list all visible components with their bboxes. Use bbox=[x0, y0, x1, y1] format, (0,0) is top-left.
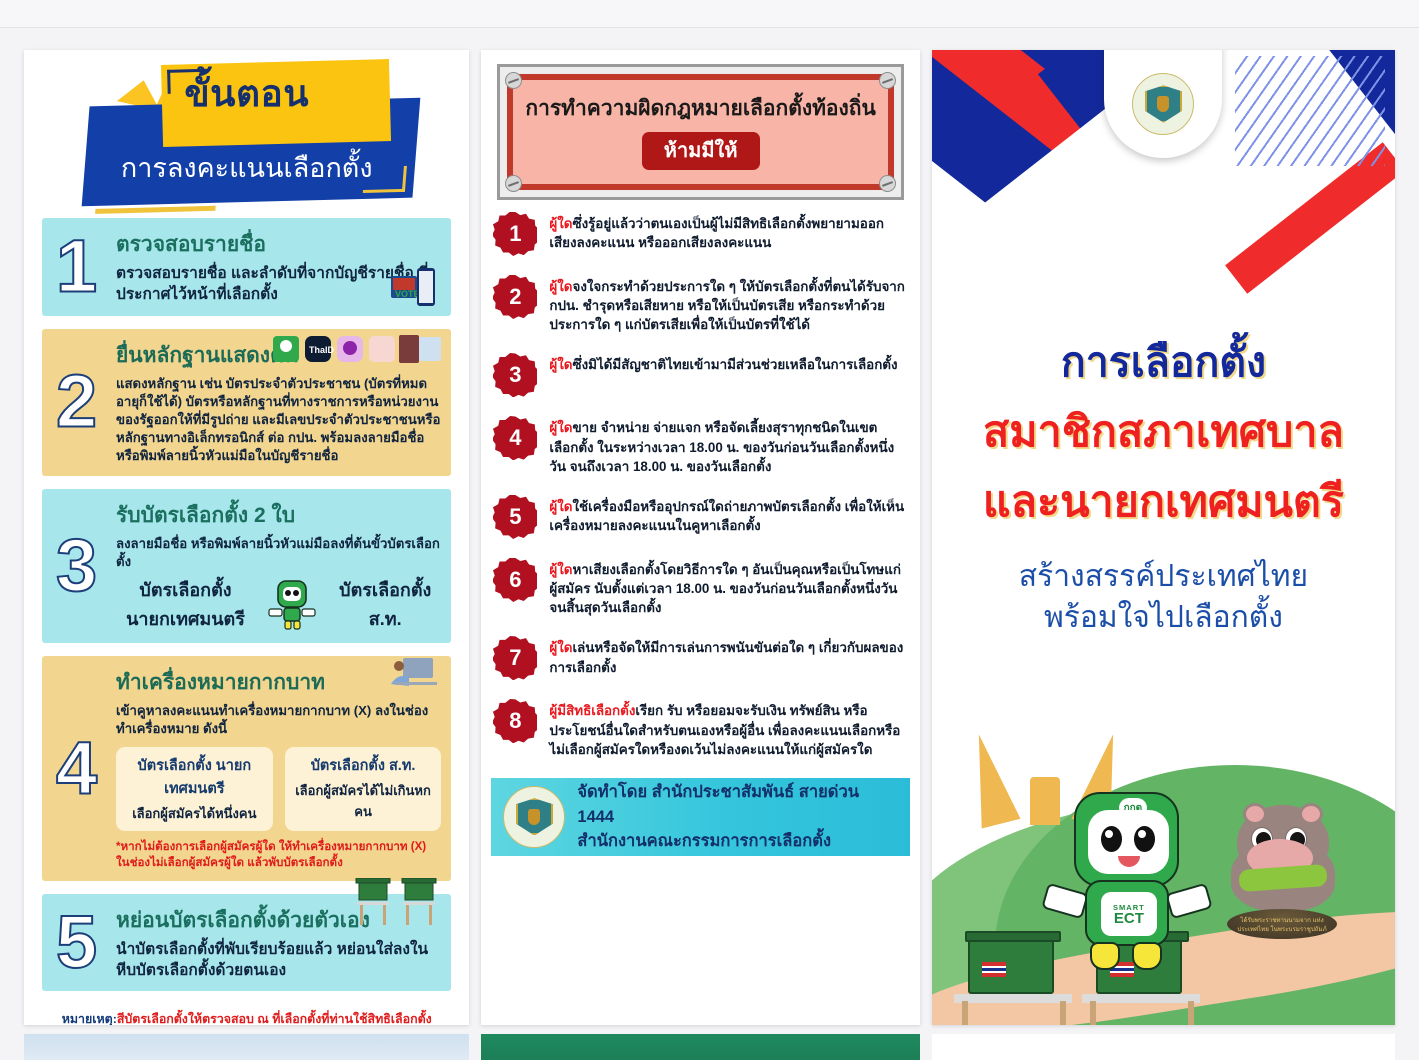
ect-footer-line2: สำนักงานคณะกรรมการการเลือกตั้ง bbox=[577, 829, 897, 854]
violation-body: ซึ่งรู้อยู่แล้วว่าตนเองเป็นผู้ไม่มีสิทธิ… bbox=[549, 216, 884, 250]
step-number: 4 bbox=[56, 738, 97, 799]
ect-footer-bar: จัดทำโดย สำนักประชาสัมพันธ์ สายด่วน 1444… bbox=[491, 778, 909, 856]
violation-body: หาเสียงเลือกตั้งโดยวิธีการใด ๆ อันเป็นคุ… bbox=[549, 562, 901, 615]
poster-titles: การเลือกตั้ง สมาชิกสภาเทศบาล และนายกเทศม… bbox=[932, 330, 1395, 638]
ect-mascot-icon bbox=[265, 577, 319, 631]
ect-emblem-icon bbox=[1132, 73, 1194, 135]
poster: การเลือกตั้ง สมาชิกสภาเทศบาล และนายกเทศม… bbox=[932, 50, 1395, 1025]
violation-highlight: ผู้ใด bbox=[549, 357, 572, 372]
violation-text: ผู้ใดซึ่งมิได้มีสัญชาติไทยเข้ามามีส่วนช่… bbox=[549, 353, 897, 374]
violation-highlight: ผู้ใด bbox=[549, 562, 572, 577]
warning-sign-inner: การทำความผิดกฎหมายเลือกตั้งท้องถิ่น ห้าม… bbox=[507, 74, 893, 190]
mascot-eye-left bbox=[1101, 826, 1122, 852]
step-heading: รับบัตรเลือกตั้ง 2 ใบ bbox=[116, 499, 441, 532]
mascot-mouth bbox=[1118, 856, 1140, 867]
violation-text: ผู้ใดขาย จำหน่าย จ่ายแจก หรือจัดเลี้ยงสุ… bbox=[549, 416, 905, 475]
violation-highlight: ผู้ใด bbox=[549, 279, 572, 294]
warning-sign-title: การทำความผิดกฎหมายเลือกตั้งท้องถิ่น bbox=[521, 92, 879, 125]
yellow-tick-decor bbox=[95, 206, 216, 214]
violation-number-seal: 3 bbox=[493, 353, 537, 397]
poster-title-line2: สมาชิกสภาเทศบาล bbox=[932, 397, 1395, 465]
poster-slogan: สร้างสรรค์ประเทศไทย พร้อมใจไปเลือกตั้ง bbox=[932, 557, 1395, 638]
violation-number-seal: 4 bbox=[493, 416, 537, 460]
ballot-box-lid bbox=[965, 931, 1061, 942]
hippo-ear-left bbox=[1243, 803, 1267, 825]
step-5: 5 หย่อนบัตรเลือกตั้งด้วยตัวเอง นำบัตรเลื… bbox=[42, 894, 451, 992]
violation-item: 6 ผู้ใดหาเสียงเลือกตั้งโดยวิธีการใด ๆ อั… bbox=[493, 558, 905, 617]
poster-slogan-line1: สร้างสรรค์ประเทศไทย bbox=[932, 557, 1395, 598]
next-row-cards bbox=[24, 1034, 1395, 1060]
svg-text:VOTE: VOTE bbox=[395, 289, 420, 299]
step-4-note: *หากไม่ต้องการเลือกผู้สมัครผู้ใด ให้ทำเค… bbox=[116, 839, 441, 871]
violation-number-seal: 1 bbox=[493, 212, 537, 256]
violation-text: ผู้ใดซึ่งรู้อยู่แล้วว่าตนเองเป็นผู้ไม่มี… bbox=[549, 212, 905, 252]
violation-body: จงใจกระทำด้วยประการใด ๆ ให้บัตรเลือกตั้ง… bbox=[549, 279, 905, 332]
violations-list: 1 ผู้ใดซึ่งรู้อยู่แล้วว่าตนเองเป็นผู้ไม่… bbox=[481, 208, 919, 759]
violation-text: ผู้ใดจงใจกระทำด้วยประการใด ๆ ให้บัตรเลือ… bbox=[549, 275, 905, 334]
step-2: 2 ยื่นหลักฐานแสดงตน แสดงหลักฐาน เช่น บัต… bbox=[42, 329, 451, 476]
poster-title-line1: การเลือกตั้ง bbox=[932, 330, 1395, 395]
ballot-box-icon bbox=[355, 878, 439, 928]
violation-number-seal: 7 bbox=[493, 636, 537, 680]
violation-body: ซึ่งมิได้มีสัญชาติไทยเข้ามามีส่วนช่วยเหล… bbox=[572, 357, 897, 372]
step-body: เข้าคูหาลงคะแนนทำเครื่องหมายกากบาท (X) ล… bbox=[116, 702, 441, 738]
violation-highlight: ผู้มีสิทธิเลือกตั้ง bbox=[549, 703, 635, 718]
poster-slogan-line2: พร้อมใจไปเลือกตั้ง bbox=[932, 598, 1395, 639]
step-3: 3 รับบัตรเลือกตั้ง 2 ใบ ลงลายมือชื่อ หรื… bbox=[42, 489, 451, 643]
choice-mayor: บัตรเลือกตั้ง นายก เทศมนตรี เลือกผู้สมัค… bbox=[116, 747, 273, 831]
mascot-body: SMART ECT bbox=[1085, 880, 1169, 946]
violation-text: ผู้มีสิทธิเลือกตั้งเรียก รับ หรือยอมจะรั… bbox=[549, 699, 905, 758]
smart-ect-mascot: กกต SMART ECT bbox=[1052, 792, 1202, 967]
choice-council: บัตรเลือกตั้ง ส.ท. เลือกผู้สมัครได้ไม่เก… bbox=[285, 747, 442, 831]
steps-header: ขั้นตอน การลงคะแนนเลือกตั้ง bbox=[24, 50, 469, 218]
violation-text: ผู้ใดเล่นหรือจัดให้มีการเล่นการพนันขันต่… bbox=[549, 636, 905, 676]
ballot-box-left bbox=[968, 938, 1054, 994]
warning-sign-badge: ห้ามมีให้ bbox=[642, 132, 760, 170]
hippo-base-caption: ได้รับพระราชทานนามจาก แห่งประเทศไทย ในพร… bbox=[1227, 909, 1337, 935]
violation-number-seal: 2 bbox=[493, 275, 537, 319]
mascot-chest-logo: SMART ECT bbox=[1101, 892, 1157, 936]
next-card-left bbox=[24, 1034, 469, 1060]
vote-phone-icon: VOTE bbox=[391, 266, 437, 310]
steps-title: ขั้นตอน bbox=[24, 64, 469, 123]
hippo-figurine: ได้รับพระราชทานนามจาก แห่งประเทศไทย ในพร… bbox=[1215, 805, 1347, 933]
voting-steps-card: ขั้นตอน การลงคะแนนเลือกตั้ง 1 ตรวจสอบราย… bbox=[24, 50, 469, 1025]
poster-scene: กกต SMART ECT bbox=[932, 695, 1395, 1025]
steps-subtitle: การลงคะแนนเลือกตั้ง bbox=[24, 146, 469, 189]
violation-highlight: ผู้ใด bbox=[549, 499, 572, 514]
steps-footnote: หมายเหตุ:สีบัตรเลือกตั้งให้ตรวจสอบ ณ ที่… bbox=[24, 1004, 469, 1025]
next-card-middle bbox=[481, 1034, 919, 1060]
footnote-text: สีบัตรเลือกตั้งให้ตรวจสอบ ณ ที่เลือกตั้ง… bbox=[117, 1012, 432, 1025]
next-card-right bbox=[932, 1034, 1395, 1060]
violation-number-seal: 8 bbox=[493, 699, 537, 743]
violation-number-seal: 6 bbox=[493, 558, 537, 602]
warning-sign: การทำความผิดกฎหมายเลือกตั้งท้องถิ่น ห้าม… bbox=[497, 64, 903, 200]
violation-highlight: ผู้ใด bbox=[549, 216, 572, 231]
emblem-urn bbox=[528, 809, 540, 825]
thai-flag-icon bbox=[982, 962, 1006, 977]
step-body: ลงลายมือชื่อ หรือพิมพ์ลายนิ้วหัวแม่มือลง… bbox=[116, 535, 441, 571]
violation-item: 4 ผู้ใดขาย จำหน่าย จ่ายแจก หรือจัดเลี้ยง… bbox=[493, 416, 905, 475]
mascot-chest-big: ECT bbox=[1101, 912, 1157, 926]
emblem-shield bbox=[516, 798, 553, 835]
hippo-base: ได้รับพระราชทานนามจาก แห่งประเทศไทย ในพร… bbox=[1227, 909, 1337, 939]
ballot-labels: บัตรเลือกตั้ง นายกเทศมนตรี บัตรเลือกตั้ง… bbox=[116, 575, 441, 633]
violation-highlight: ผู้ใด bbox=[549, 640, 572, 655]
screw-icon bbox=[879, 72, 896, 89]
ect-footer-line1: จัดทำโดย สำนักประชาสัมพันธ์ สายด่วน 1444 bbox=[577, 780, 897, 830]
election-poster-card: การเลือกตั้ง สมาชิกสภาเทศบาล และนายกเทศม… bbox=[932, 50, 1395, 1025]
step-number: 1 bbox=[56, 236, 97, 297]
step-number: 2 bbox=[56, 372, 97, 433]
violation-item: 3 ผู้ใดซึ่งมิได้มีสัญชาติไทยเข้ามามีส่วน… bbox=[493, 353, 905, 397]
mascot-face bbox=[1088, 810, 1169, 874]
step-4: 4 ทำเครื่องหมายกากบาท เข้าคูหาลงคะแนนทำเ… bbox=[42, 656, 451, 881]
violation-item: 8 ผู้มีสิทธิเลือกตั้งเรียก รับ หรือยอมจะ… bbox=[493, 699, 905, 758]
monument-wing-left-icon bbox=[970, 733, 1010, 825]
violation-text: ผู้ใดใช้เครื่องมือหรืออุปกรณ์ใดถ่ายภาพบั… bbox=[549, 495, 905, 535]
mascot-leg-left bbox=[1090, 942, 1120, 970]
ballot-label-council: บัตรเลือกตั้ง ส.ท. bbox=[339, 575, 431, 633]
violation-highlight: ผู้ใด bbox=[549, 420, 572, 435]
violation-item: 7 ผู้ใดเล่นหรือจัดให้มีการเล่นการพนันขัน… bbox=[493, 636, 905, 680]
violation-number-seal: 5 bbox=[493, 495, 537, 539]
violation-body: ขาย จำหน่าย จ่ายแจก หรือจัดเลี้ยงสุราทุก… bbox=[549, 420, 894, 473]
violation-text: ผู้ใดหาเสียงเลือกตั้งโดยวิธีการใด ๆ อันเ… bbox=[549, 558, 905, 617]
voter-at-booth-icon bbox=[389, 654, 441, 692]
mascot-leg-right bbox=[1132, 942, 1162, 970]
violation-item: 1 ผู้ใดซึ่งรู้อยู่แล้วว่าตนเองเป็นผู้ไม่… bbox=[493, 212, 905, 256]
ect-footer-text: จัดทำโดย สำนักประชาสัมพันธ์ สายด่วน 1444… bbox=[577, 780, 897, 854]
emblem-urn bbox=[1157, 96, 1169, 112]
violation-body: เล่นหรือจัดให้มีการเล่นการพนันขันต่อใด ๆ… bbox=[549, 640, 903, 674]
browser-top-bar bbox=[0, 0, 1419, 28]
violation-item: 5 ผู้ใดใช้เครื่องมือหรืออุปกรณ์ใดถ่ายภาพ… bbox=[493, 495, 905, 539]
mascot-head: กกต bbox=[1074, 792, 1179, 887]
infographic-page: ขั้นตอน การลงคะแนนเลือกตั้ง 1 ตรวจสอบราย… bbox=[0, 28, 1419, 1025]
screw-icon bbox=[879, 175, 896, 192]
decor-stripes bbox=[1235, 56, 1385, 166]
step-number: 3 bbox=[56, 536, 97, 597]
ect-emblem-icon bbox=[503, 786, 565, 848]
poster-title-line3: และนายกเทศมนตรี bbox=[932, 467, 1395, 535]
step-body: แสดงหลักฐาน เช่น บัตรประจำตัวประชาชน (บั… bbox=[116, 375, 441, 466]
hippo-ear-right bbox=[1299, 803, 1323, 825]
violation-body: ใช้เครื่องมือหรืออุปกรณ์ใดถ่ายภาพบัตรเลื… bbox=[549, 499, 904, 533]
violation-item: 2 ผู้ใดจงใจกระทำด้วยประการใด ๆ ให้บัตรเล… bbox=[493, 275, 905, 334]
emblem-shield bbox=[1145, 85, 1182, 122]
violations-card: การทำความผิดกฎหมายเลือกตั้งท้องถิ่น ห้าม… bbox=[481, 50, 919, 1025]
ballot-label-mayor: บัตรเลือกตั้ง นายกเทศมนตรี bbox=[126, 575, 245, 633]
ballot-table-right bbox=[1082, 994, 1200, 1003]
step-body: นำบัตรเลือกตั้งที่พับเรียบร้อยแล้ว หย่อน… bbox=[116, 940, 441, 982]
step-number: 5 bbox=[56, 912, 97, 973]
mascot-eye-right bbox=[1134, 826, 1155, 852]
ballot-choice-boxes: บัตรเลือกตั้ง นายก เทศมนตรี เลือกผู้สมัค… bbox=[116, 747, 441, 831]
step-1: 1 ตรวจสอบรายชื่อ ตรวจสอบรายชื่อ และลำดับ… bbox=[42, 218, 451, 316]
step-heading: ตรวจสอบรายชื่อ bbox=[116, 228, 441, 261]
ballot-table-left bbox=[954, 994, 1072, 1003]
svg-text:ThaID: ThaID bbox=[309, 345, 335, 355]
footnote-label: หมายเหตุ: bbox=[62, 1012, 117, 1025]
identity-documents-icon: ThaID bbox=[273, 333, 443, 367]
